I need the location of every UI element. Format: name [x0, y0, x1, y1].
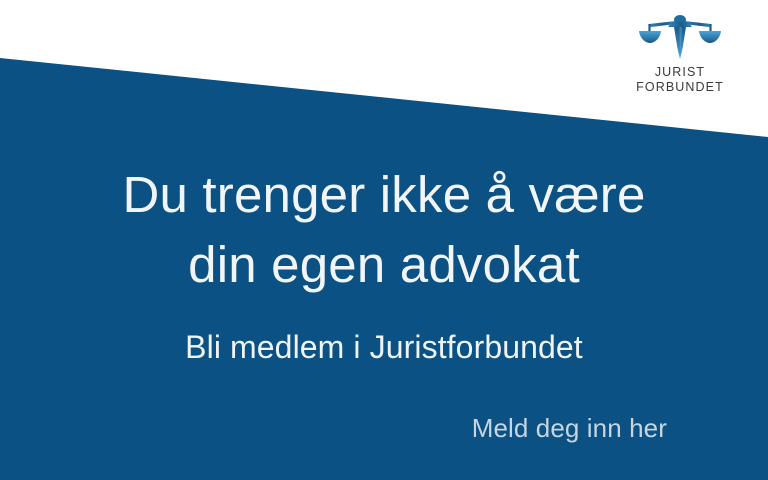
- headline-line-1: Du trenger ikke å være: [0, 160, 768, 230]
- logo-wordmark: JURIST FORBUNDET: [636, 65, 724, 95]
- logo-wordmark-line1: JURIST: [655, 65, 705, 79]
- advertisement-banner: JURIST FORBUNDET Du trenger ikke å være …: [0, 0, 768, 480]
- headline: Du trenger ikke å være din egen advokat: [0, 160, 768, 300]
- signup-link[interactable]: Meld deg inn her: [472, 411, 667, 445]
- scales-of-justice-icon: [638, 14, 722, 60]
- headline-line-2: din egen advokat: [0, 230, 768, 300]
- subheadline: Bli medlem i Juristforbundet: [0, 326, 768, 368]
- juristforbundet-logo[interactable]: JURIST FORBUNDET: [634, 14, 726, 95]
- logo-wordmark-line2: FORBUNDET: [636, 80, 724, 95]
